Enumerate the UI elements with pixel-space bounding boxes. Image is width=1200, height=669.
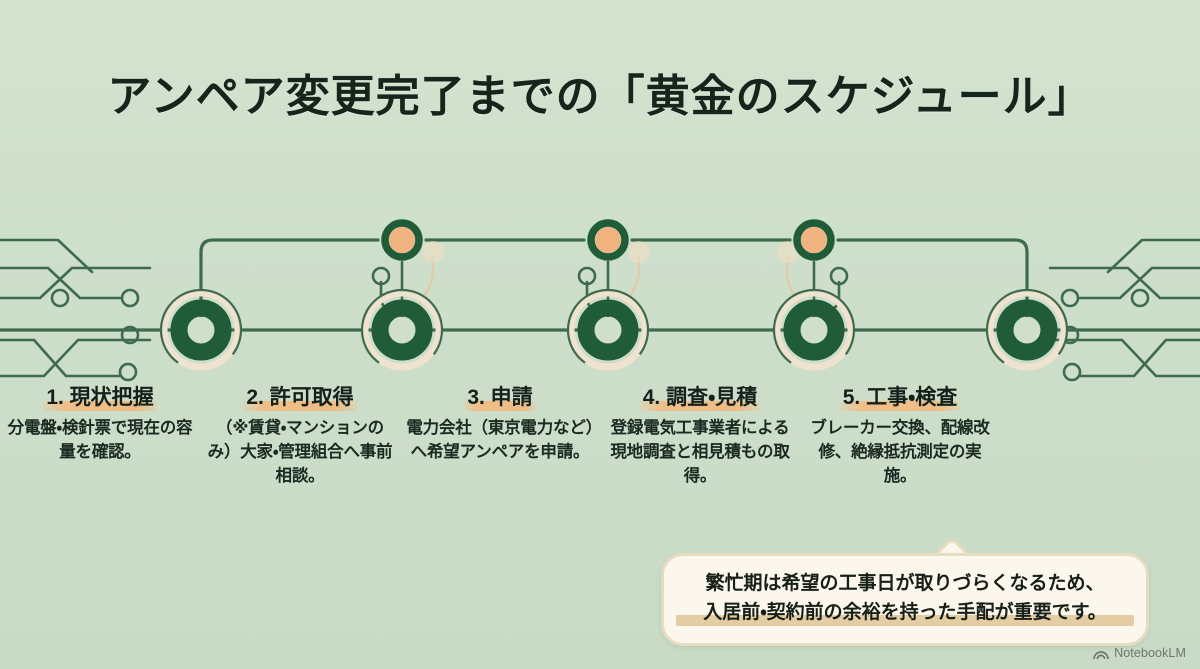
steps-row: 1. 現状把握 分電盤・検針票で現在の容量を確認。 2. 許可取得 （※賃貸・マ… <box>0 385 1200 489</box>
step-body-3: 電力会社（東京電力など）へ希望アンペアを申請。 <box>406 417 594 465</box>
step-heading-1: 1. 現状把握 <box>43 385 156 412</box>
circuit-diagram: .tr { fill:none; stroke:#3e6b4e; stroke-… <box>0 180 1200 390</box>
step-heading-3: 3. 申請 <box>464 385 535 412</box>
circuit-node-1 <box>145 274 256 385</box>
step-item-1: 1. 現状把握 分電盤・検針票で現在の容量を確認。 <box>0 385 200 465</box>
step-item-3: 3. 申請 電力会社（東京電力など）へ希望アンペアを申請。 <box>400 385 600 465</box>
callout-line-2: 入居前・契約前の余裕を持った手配が重要です。 <box>680 598 1130 627</box>
step-body-5: ブレーカー交換、配線改修、絶縁抵抗測定の実施。 <box>806 417 994 489</box>
circuit-node-4 <box>758 223 869 386</box>
notebooklm-watermark: NotebookLM <box>1093 646 1186 660</box>
callout-note: 繁忙期は希望の工事日が取りづらくなるため、 入居前・契約前の余裕を持った手配が重… <box>661 553 1149 646</box>
step-item-5: 5. 工事・検査 ブレーカー交換、配線改修、絶縁抵抗測定の実施。 <box>800 385 1000 489</box>
step-item-4: 4. 調査・見積 登録電気工事業者による現地調査と相見積もの取得。 <box>600 385 800 489</box>
step-item-2: 2. 許可取得 （※賃貸・マンションのみ）大家・管理組合へ事前相談。 <box>200 385 400 489</box>
page-title: アンペア変更完了までの「黄金のスケジュール」 <box>0 60 1200 124</box>
step-body-1: 分電盤・検針票で現在の容量を確認。 <box>6 417 194 465</box>
infographic-canvas: アンペア変更完了までの「黄金のスケジュール」 .tr { fill:none; … <box>0 0 1200 669</box>
watermark-label: NotebookLM <box>1114 646 1186 660</box>
circuit-right-decor <box>1050 240 1200 380</box>
step-heading-4: 4. 調査・見積 <box>640 385 761 412</box>
step-body-4: 登録電気工事業者による現地調査と相見積もの取得。 <box>606 417 794 489</box>
step-heading-2: 2. 許可取得 <box>243 385 356 412</box>
step-body-2: （※賃貸・マンションのみ）大家・管理組合へ事前相談。 <box>206 417 394 489</box>
notebooklm-icon <box>1093 647 1109 660</box>
step-heading-5: 5. 工事・検査 <box>840 385 961 412</box>
circuit-left-decor <box>0 240 150 380</box>
callout-line-1: 繁忙期は希望の工事日が取りづらくなるため、 <box>680 569 1130 598</box>
